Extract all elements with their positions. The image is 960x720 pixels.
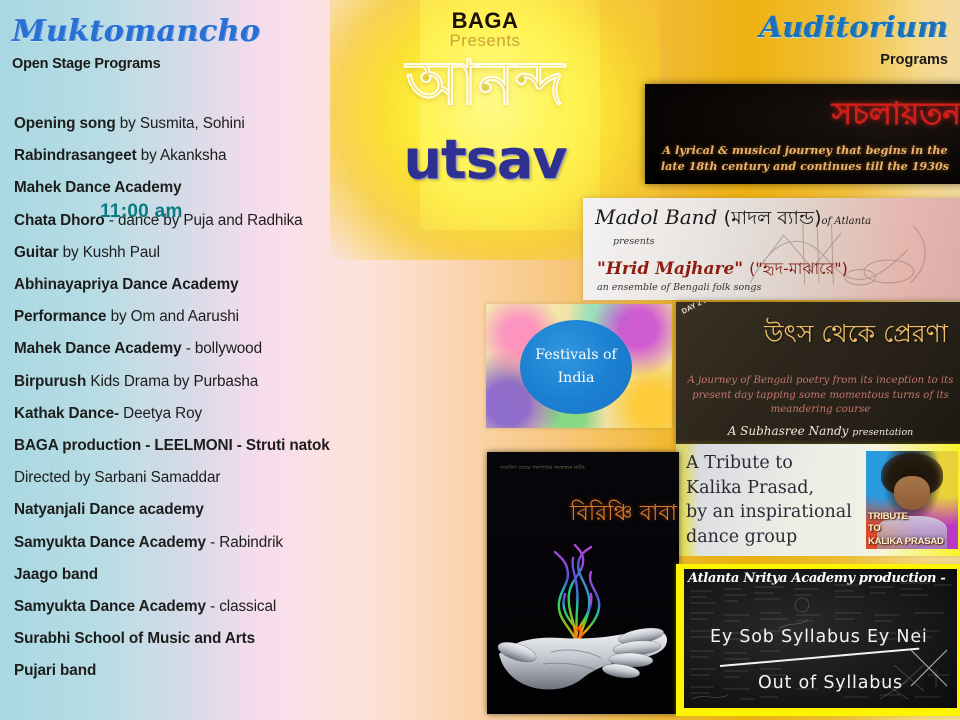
kalika-tribute-text: A Tribute to Kalika Prasad, by an inspir…	[686, 451, 852, 549]
caption-line-3: KALIKA PRASAD	[868, 536, 944, 549]
list-item: Surabhi School of Music and Arts	[14, 623, 464, 655]
card-festivals-of-india[interactable]: Festivals of India	[486, 304, 672, 428]
card-out-of-syllabus[interactable]: Atlanta Nritya Academy production - Ey S…	[676, 564, 960, 716]
kalika-line-2: Kalika Prasad,	[686, 476, 852, 501]
chalk-x-mark-icon	[907, 646, 951, 690]
madol-band-name: Madol Band (মাদল ব্যান্ড)of Atlanta	[595, 204, 871, 236]
muktomancho-heading: Muktomancho	[12, 14, 260, 49]
caption-line-2: TO	[868, 523, 944, 536]
festivals-line-2: India	[558, 367, 595, 390]
syllabus-original-title: Ey Sob Syllabus Ey Nei	[710, 627, 928, 647]
kalika-photo-caption: TRIBUTE TO KALIKA PRASAD	[868, 511, 944, 549]
birinchi-subtitle-bangla: সত্যজিৎ রায়ের পরশপাথর অবলম্বনে নাটক	[500, 465, 585, 472]
list-item: Mahek Dance Academy - bollywood	[14, 333, 464, 365]
open-stage-subheading: Open Stage Programs	[12, 56, 161, 72]
kalika-line-4: dance group	[686, 525, 852, 550]
caption-line-1: TRIBUTE	[868, 511, 944, 524]
list-item: Performance by Om and Aarushi	[14, 301, 464, 333]
open-hand-illustration	[491, 606, 675, 696]
list-item: Kathak Dance- Deetya Roy	[14, 398, 464, 430]
poetry-credit: A Subhasree Nandy presentation	[676, 424, 960, 438]
madol-tagline: an ensemble of Bengali folk songs	[597, 282, 761, 293]
festivals-circle-badge: Festivals of India	[520, 320, 632, 414]
kalika-prasad-portrait: TRIBUTE TO KALIKA PRASAD	[866, 451, 958, 549]
list-item: Jaago band	[14, 559, 464, 591]
event-title-bangla: আনন্দ	[330, 52, 640, 114]
card-madol-band[interactable]: Madol Band (মাদল ব্যান্ড)of Atlanta pres…	[583, 198, 960, 300]
list-item: Samyukta Dance Academy - classical	[14, 591, 464, 623]
poetry-corner-label: DAY 2 BAGA Ananda	[680, 302, 736, 317]
card-kalika-prasad-tribute[interactable]: A Tribute to Kalika Prasad, by an inspir…	[676, 444, 960, 556]
list-item: BAGA production - LEELMONI - Struti nato…	[14, 430, 464, 462]
list-item: Abhinayapriya Dance Academy	[14, 269, 464, 301]
sachalayatan-title-bangla: সচলায়তন	[832, 90, 960, 142]
card-birinchi-baba[interactable]: সত্যজিৎ রায়ের পরশপাথর অবলম্বনে নাটক বির…	[487, 452, 679, 714]
madol-presents-label: presents	[613, 236, 655, 247]
list-item: Pujari band	[14, 655, 464, 687]
syllabus-production-credit: Atlanta Nritya Academy production -	[688, 571, 945, 586]
auditorium-subheading: Programs	[880, 52, 948, 68]
chalkboard-surface: Atlanta Nritya Academy production - Ey S…	[684, 569, 957, 708]
list-item: Birpurush Kids Drama by Purbasha	[14, 366, 464, 398]
birinchi-title-bangla: বিরিঞ্চি বাবা	[570, 496, 677, 533]
auditorium-heading: Auditorium	[759, 10, 948, 44]
syllabus-final-title: Out of Syllabus	[758, 673, 903, 693]
list-item: Samyukta Dance Academy - Rabindrik	[14, 527, 464, 559]
event-title-latin: utsav	[330, 128, 640, 191]
sachalayatan-description: A lyrical & musical journey that begins …	[653, 142, 957, 174]
list-item: Natyanjali Dance academy	[14, 494, 464, 526]
event-time: 11:00 am	[100, 201, 183, 223]
festivals-line-1: Festivals of	[535, 344, 617, 367]
poster-canvas: Muktomancho Open Stage Programs Opening …	[0, 0, 960, 720]
portrait-face-shape	[894, 476, 931, 509]
poetry-description: A journey of Bengali poetry from its inc…	[682, 374, 959, 418]
card-bengali-poetry[interactable]: DAY 2 BAGA Ananda উৎস থেকে প্রেরণা A jou…	[676, 302, 960, 444]
card-sachalayatan[interactable]: সচলায়তন A lyrical & musical journey tha…	[645, 84, 960, 184]
kalika-line-3: by an inspirational	[686, 500, 852, 525]
poetry-title-bangla: উৎস থেকে প্রেরণা	[764, 314, 959, 357]
kalika-line-1: A Tribute to	[686, 451, 852, 476]
madol-show-title: "Hrid Majhare" ("হৃদ-মাঝারে")	[597, 256, 848, 283]
list-item: Directed by Sarbani Samaddar	[14, 462, 464, 494]
list-item: Guitar by Kushh Paul	[14, 237, 464, 269]
